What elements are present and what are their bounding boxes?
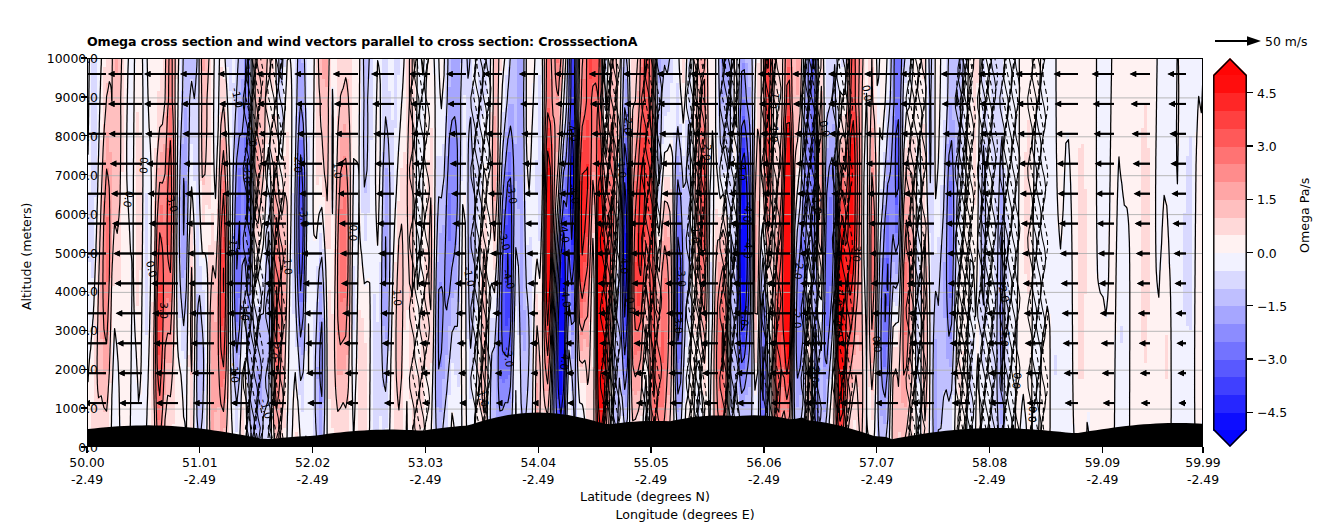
colorbar-band (1213, 395, 1247, 413)
x-tick-longitude: -2.49 (408, 472, 443, 489)
svg-text:3.0: 3.0 (158, 302, 170, 319)
colorbar-band (1213, 377, 1247, 395)
svg-text:-3.0: -3.0 (672, 313, 685, 334)
x-axis-tick-label: 51.01-2.49 (182, 455, 217, 488)
colorbar-label: Omega Pa/s (1297, 178, 1312, 253)
svg-text:-4.0: -4.0 (742, 238, 755, 259)
title-line-1: Omega cross section and wind vectors par… (87, 35, 1207, 50)
colorbar-band (1213, 359, 1247, 377)
x-axis-tick-mark (312, 447, 313, 453)
figure: Omega cross section and wind vectors par… (0, 0, 1320, 526)
y-axis-tick-mark (81, 57, 87, 58)
x-tick-longitude: -2.49 (295, 472, 330, 489)
x-axis-tick-label: 53.03-2.49 (408, 455, 443, 488)
x-tick-longitude: -2.49 (1085, 472, 1120, 489)
y-axis-tick-label: 3000.0 (55, 323, 98, 338)
colorbar-band (1213, 288, 1247, 306)
colorbar-band (1213, 253, 1247, 271)
x-tick-latitude: 58.08 (972, 455, 1007, 472)
x-axis-tick-mark (538, 447, 539, 453)
y-axis-label: Altitude (meters) (19, 203, 34, 310)
y-axis-tick-mark (81, 135, 87, 136)
svg-text:-3.0: -3.0 (502, 346, 516, 368)
x-tick-latitude: 56.06 (746, 455, 781, 472)
x-axis-tick-mark (199, 447, 200, 453)
x-axis-tick-mark (1102, 447, 1103, 453)
y-axis-tick-mark (81, 369, 87, 370)
x-tick-latitude: 59.09 (1085, 455, 1120, 472)
colorbar-tick-label: 1.5 (1257, 192, 1277, 207)
x-tick-latitude: 51.01 (182, 455, 217, 472)
x-axis-tick-label: 59.09-2.49 (1085, 455, 1120, 488)
colorbar-band (1213, 93, 1247, 111)
x-axis-tick-label: 50.00-2.49 (69, 455, 104, 488)
x-tick-longitude: -2.49 (859, 472, 894, 489)
x-axis-label-latitude: Latitude (degrees N) (580, 489, 710, 504)
svg-text:-1.0: -1.0 (810, 193, 824, 214)
y-axis-tick-label: 2000.0 (55, 362, 98, 377)
colorbar-tick-label: −4.5 (1257, 405, 1287, 420)
y-axis-tick-label: 5000.0 (55, 245, 98, 260)
svg-text:-4.0: -4.0 (741, 201, 755, 223)
x-tick-longitude: -2.49 (182, 472, 217, 489)
colorbar-tick-mark (1247, 412, 1253, 413)
quiver-key-label: 50 m/s (1265, 34, 1307, 49)
x-axis-tick-label: 57.07-2.49 (859, 455, 894, 488)
x-tick-latitude: 50.00 (69, 455, 104, 472)
quiver-key: 50 m/s (1213, 32, 1320, 54)
svg-text:0.0: 0.0 (347, 224, 359, 241)
x-tick-longitude: -2.49 (972, 472, 1007, 489)
y-axis-tick-label: 1000.0 (55, 401, 98, 416)
x-axis-tick-mark (876, 447, 877, 453)
x-tick-latitude: 52.02 (295, 455, 330, 472)
x-axis-label-longitude: Longitude (degrees E) (615, 507, 754, 522)
colorbar-tick-label: 3.0 (1257, 139, 1277, 154)
y-axis-tick-mark (81, 330, 87, 331)
colorbar-band (1213, 324, 1247, 342)
colorbar-tick-mark (1247, 199, 1253, 200)
colorbar-band (1213, 164, 1247, 182)
x-axis-tick-mark (86, 447, 87, 453)
plot-canvas: -4.0-4.0-4.0-4.0-4.0-4.0-4.0-4.0-4.0-4.0… (88, 59, 1202, 446)
x-tick-longitude: -2.49 (69, 472, 104, 489)
colorbar-band (1213, 75, 1247, 93)
colorbar-band (1213, 341, 1247, 359)
colorbar-band (1213, 217, 1247, 235)
colorbar-band (1213, 146, 1247, 164)
colorbar-tick-label: −1.5 (1257, 298, 1287, 313)
x-tick-longitude: -2.49 (633, 472, 668, 489)
y-axis-tick-mark (81, 96, 87, 97)
svg-text:-4.0: -4.0 (559, 287, 573, 309)
y-axis-tick-label: 9000.0 (55, 89, 98, 104)
x-tick-latitude: 54.04 (521, 455, 556, 472)
x-axis-tick-mark (650, 447, 651, 453)
colorbar-tick-label: −3.0 (1257, 352, 1287, 367)
colorbar: 4.53.01.50.0−1.5−3.0−4.5 (1213, 58, 1247, 447)
x-axis-tick-mark (425, 447, 426, 453)
colorbar-band (1213, 306, 1247, 324)
y-axis-tick-mark (81, 174, 87, 175)
x-axis-tick-label: 56.06-2.49 (746, 455, 781, 488)
plot-area: -4.0-4.0-4.0-4.0-4.0-4.0-4.0-4.0-4.0-4.0… (87, 58, 1203, 447)
colorbar-tick-mark (1247, 145, 1253, 146)
y-axis-tick-label: 10000.0 (47, 51, 98, 66)
y-axis-tick-mark (81, 407, 87, 408)
x-tick-longitude: -2.49 (1185, 472, 1220, 489)
colorbar-tick-label: 0.0 (1257, 245, 1277, 260)
x-tick-latitude: 53.03 (408, 455, 443, 472)
x-axis-tick-label: 55.05-2.49 (633, 455, 668, 488)
x-tick-latitude: 55.05 (633, 455, 668, 472)
y-axis-tick-mark (81, 213, 87, 214)
x-tick-longitude: -2.49 (521, 472, 556, 489)
x-axis-tick-mark (763, 447, 764, 453)
x-axis-tick-label: 59.99-2.49 (1185, 455, 1220, 488)
colorbar-band (1213, 235, 1247, 253)
y-axis-tick-label: 7000.0 (55, 167, 98, 182)
svg-text:0.0: 0.0 (137, 157, 150, 174)
colorbar-tick-label: 4.5 (1257, 85, 1277, 100)
y-axis-tick-mark (81, 252, 87, 253)
colorbar-band (1213, 128, 1247, 146)
x-axis-tick-mark (1202, 447, 1203, 453)
y-axis-tick-mark (81, 291, 87, 292)
y-axis-tick-label: 4000.0 (55, 284, 98, 299)
colorbar-bands (1213, 75, 1247, 430)
colorbar-tick-mark (1247, 305, 1253, 306)
colorbar-band (1213, 270, 1247, 288)
colorbar-band (1213, 412, 1247, 430)
x-tick-latitude: 57.07 (859, 455, 894, 472)
x-tick-longitude: -2.49 (746, 472, 781, 489)
colorbar-tick-mark (1247, 252, 1253, 253)
x-axis-tick-label: 54.04-2.49 (521, 455, 556, 488)
svg-text:1.0: 1.0 (391, 289, 404, 306)
colorbar-band (1213, 111, 1247, 129)
wind-arrow-icon (1213, 32, 1263, 54)
colorbar-band (1213, 199, 1247, 217)
x-axis-tick-label: 58.08-2.49 (972, 455, 1007, 488)
omega-cross-section-render: -4.0-4.0-4.0-4.0-4.0-4.0-4.0-4.0-4.0-4.0… (88, 59, 1202, 446)
x-axis-tick-mark (989, 447, 990, 453)
y-axis-tick-label: 8000.0 (55, 128, 98, 143)
y-axis-tick-label: 6000.0 (55, 206, 98, 221)
x-tick-latitude: 59.99 (1185, 455, 1220, 472)
colorbar-tick-mark (1247, 358, 1253, 359)
colorbar-band (1213, 182, 1247, 200)
svg-text:-2.0: -2.0 (622, 113, 634, 134)
colorbar-tick-mark (1247, 92, 1253, 93)
x-axis-tick-label: 52.02-2.49 (295, 455, 330, 488)
